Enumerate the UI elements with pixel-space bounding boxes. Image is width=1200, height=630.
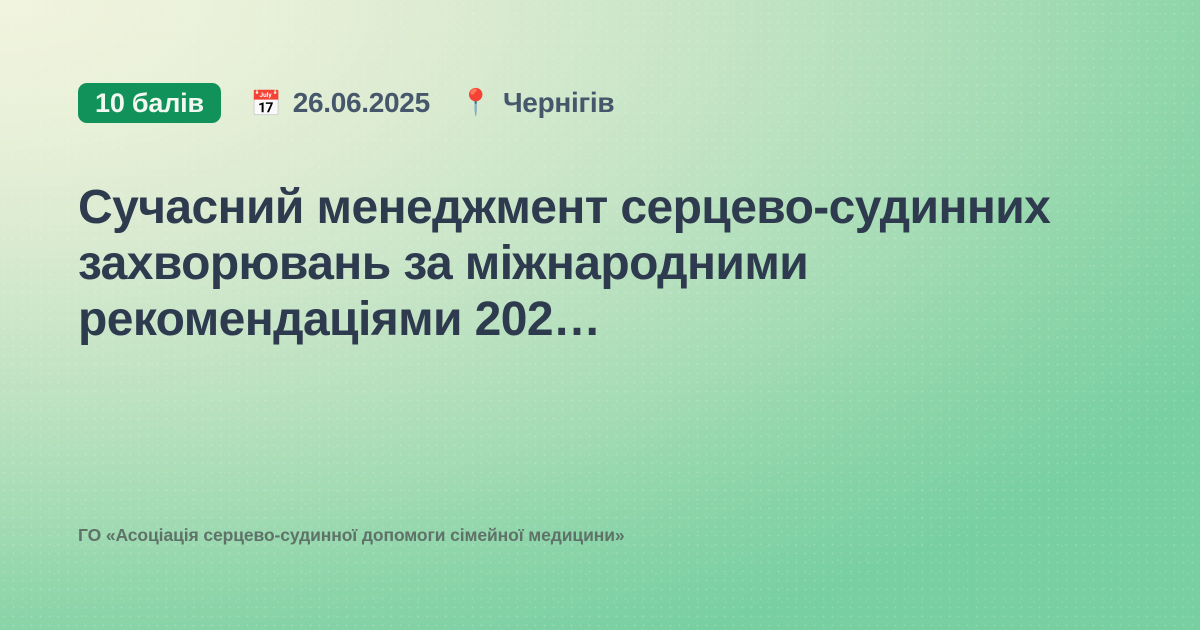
event-date-value: 26.06.2025	[293, 87, 430, 119]
calendar-icon: 📅	[251, 91, 282, 116]
location-pin-icon: 📍	[460, 90, 492, 116]
event-location-value: Чернігів	[503, 87, 614, 119]
organizer-name: ГО «Асоціація серцево-судинної допомоги …	[78, 525, 625, 546]
event-location: 📍 Чернігів	[460, 87, 614, 119]
event-poster: 10 балів 📅 26.06.2025 📍 Чернігів Сучасни…	[0, 0, 1200, 630]
event-title: Сучасний менеджмент серцево-судинних зах…	[78, 124, 1122, 348]
event-date: 📅 26.06.2025	[251, 87, 430, 119]
meta-row: 10 балів 📅 26.06.2025 📍 Чернігів	[78, 82, 1122, 124]
points-badge: 10 балів	[78, 83, 221, 123]
